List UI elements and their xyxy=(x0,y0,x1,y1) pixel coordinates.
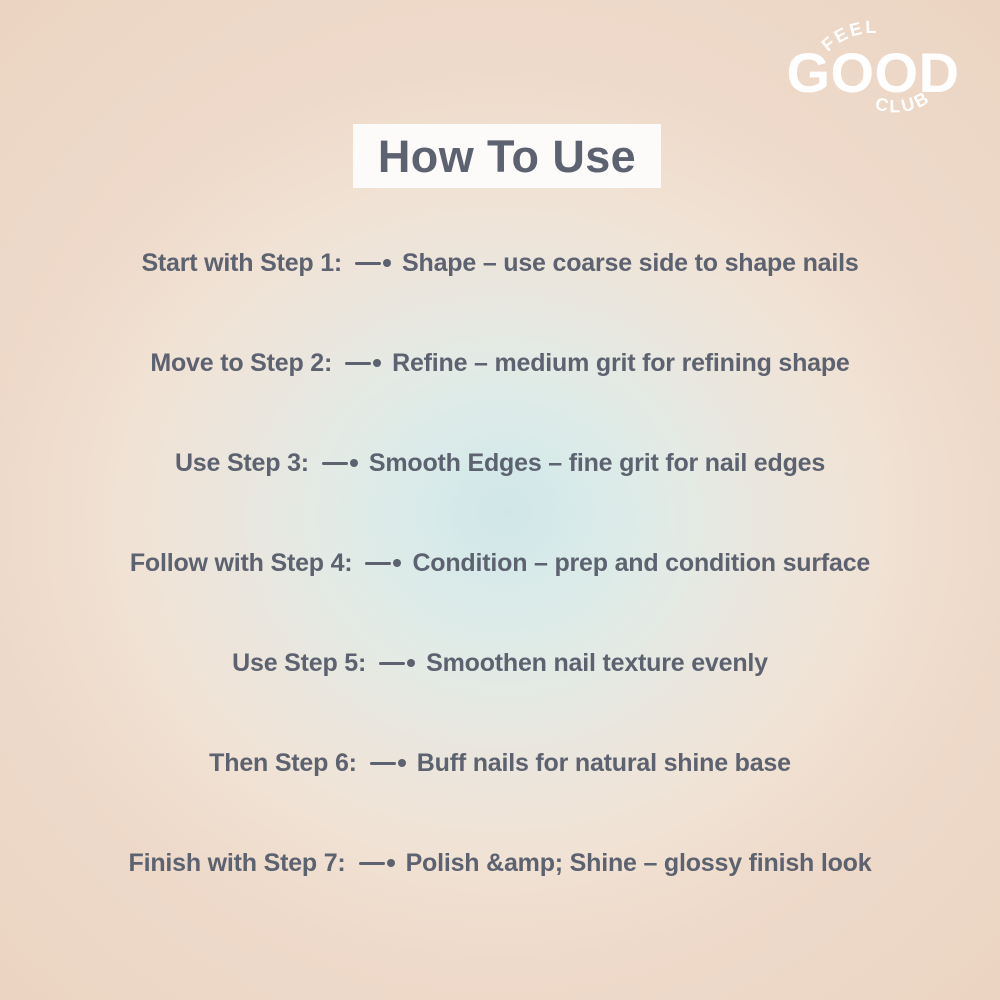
arrow-dot-icon xyxy=(345,359,381,367)
step-row: Start with Step 1: Shape – use coarse si… xyxy=(0,240,1000,286)
arrow-dot-icon xyxy=(359,859,395,867)
step-lead-label: Finish with Step 7: xyxy=(129,849,346,878)
steps-list: Start with Step 1: Shape – use coarse si… xyxy=(0,240,1000,920)
step-description: Smooth Edges – fine grit for nail edges xyxy=(369,449,825,478)
page-title-box: How To Use xyxy=(353,124,661,188)
step-lead-label: Use Step 3: xyxy=(175,449,309,478)
arrow-dot-icon xyxy=(355,259,391,267)
step-description: Condition – prep and condition surface xyxy=(412,549,870,578)
arrow-dot-icon xyxy=(322,459,358,467)
brand-logo: FEEL GOOD CLUB xyxy=(760,14,986,130)
step-lead-label: Follow with Step 4: xyxy=(130,549,353,578)
step-row: Follow with Step 4: Condition – prep and… xyxy=(0,540,1000,586)
step-lead-label: Use Step 5: xyxy=(232,649,366,678)
logo-word-text: GOOD xyxy=(786,41,959,104)
arrow-dot-icon xyxy=(365,559,401,567)
arrow-dot-icon xyxy=(370,759,406,767)
step-lead-label: Move to Step 2: xyxy=(150,349,332,378)
step-row: Use Step 3: Smooth Edges – fine grit for… xyxy=(0,440,1000,486)
page-title: How To Use xyxy=(378,134,636,179)
how-to-use-poster: FEEL GOOD CLUB How To Use Start with Ste… xyxy=(0,0,1000,1000)
step-description: Refine – medium grit for refining shape xyxy=(392,349,850,378)
arrow-dot-icon xyxy=(379,659,415,667)
step-row: Use Step 5: Smoothen nail texture evenly xyxy=(0,640,1000,686)
step-row: Finish with Step 7: Polish &amp; Shine –… xyxy=(0,840,1000,886)
step-description: Smoothen nail texture evenly xyxy=(426,649,768,678)
step-row: Then Step 6: Buff nails for natural shin… xyxy=(0,740,1000,786)
step-description: Polish &amp; Shine – glossy finish look xyxy=(406,849,872,878)
step-description: Buff nails for natural shine base xyxy=(417,749,791,778)
step-description: Shape – use coarse side to shape nails xyxy=(402,249,859,278)
step-lead-label: Start with Step 1: xyxy=(141,249,342,278)
step-lead-label: Then Step 6: xyxy=(209,749,357,778)
step-row: Move to Step 2: Refine – medium grit for… xyxy=(0,340,1000,386)
